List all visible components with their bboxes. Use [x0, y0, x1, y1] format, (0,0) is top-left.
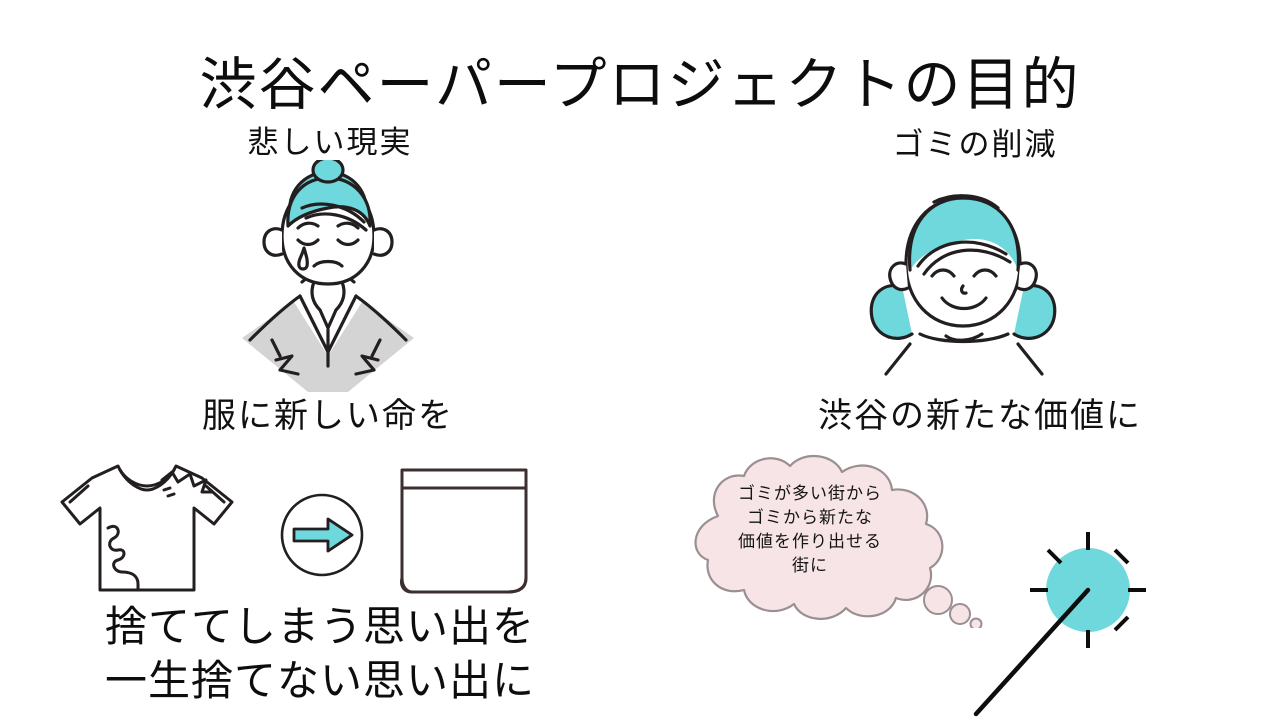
wand-handle — [976, 590, 1088, 714]
right-arrow-circle-icon — [272, 487, 372, 583]
paper-bag-icon — [392, 462, 536, 598]
sad-crying-woman-illustration — [228, 160, 428, 392]
heading-sad-reality: 悲しい現実 — [145, 124, 515, 161]
page-title: 渋谷ペーパープロジェクトの目的 — [0, 54, 1280, 117]
torn-tshirt-icon — [52, 458, 242, 598]
smiling-girl-illustration — [858, 178, 1068, 383]
slide-canvas: 渋谷ペーパープロジェクトの目的 悲しい現実 — [0, 0, 1280, 720]
heading-new-value-for-shibuya: 渋谷の新たな価値に — [770, 396, 1190, 437]
heading-new-life-for-clothes: 服に新しい命を — [128, 396, 528, 437]
caption-memories: 捨ててしまう思い出を 一生捨てない思い出に — [60, 600, 580, 708]
heading-waste-reduction: ゴミの削減 — [790, 126, 1160, 163]
magic-wand-icon — [968, 528, 1168, 718]
caption-line-1: 捨ててしまう思い出を — [60, 600, 580, 654]
thought-bubble-icon — [648, 452, 988, 628]
caption-line-2: 一生捨てない思い出に — [60, 654, 580, 708]
